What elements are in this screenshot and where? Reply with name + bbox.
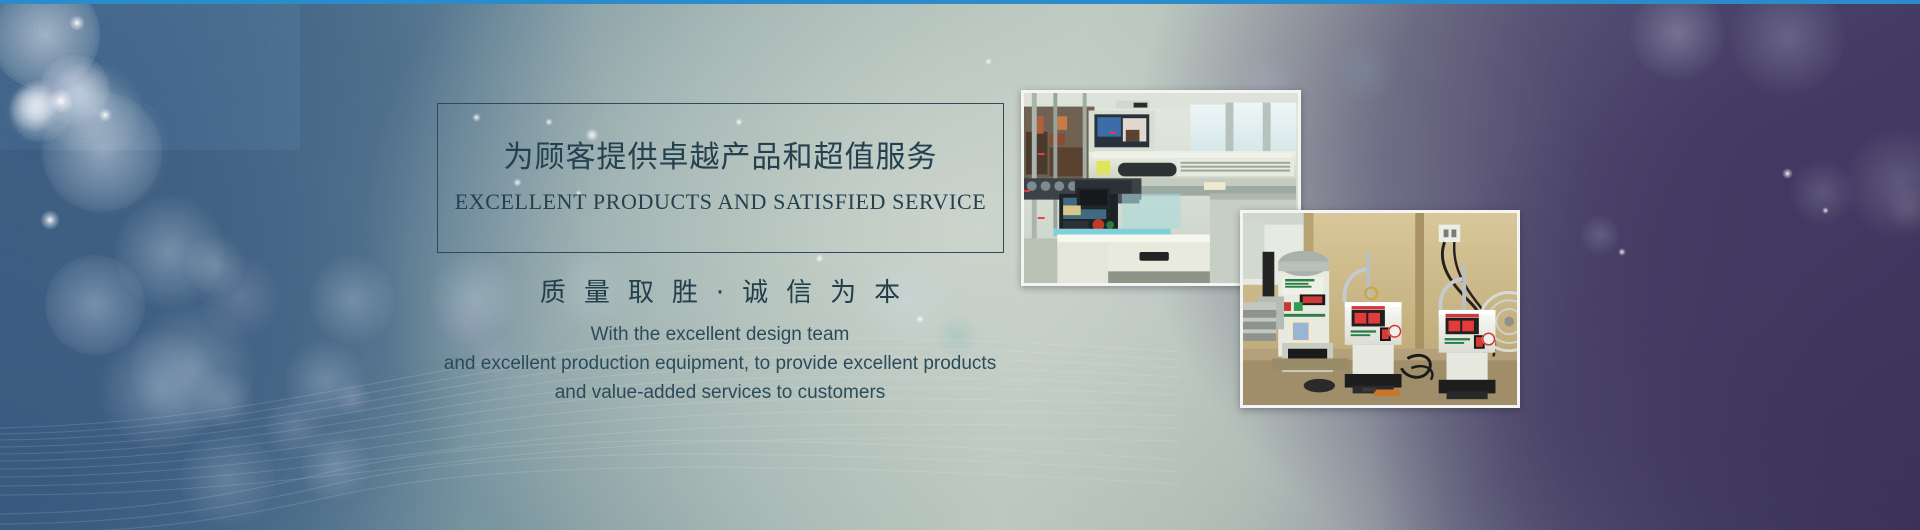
headline-english: EXCELLENT PRODUCTS AND SATISFIED SERVICE <box>437 189 1004 215</box>
description-paragraph: With the excellent design team and excel… <box>330 320 1110 407</box>
headline-chinese: 为顾客提供卓越产品和超值服务 <box>437 132 1004 176</box>
top-accent-bar <box>0 0 1920 4</box>
photo-press-machines <box>1240 210 1520 408</box>
promo-banner: 为顾客提供卓越产品和超值服务 EXCELLENT PRODUCTS AND SA… <box>0 0 1920 530</box>
photo-press-machines-image <box>1243 213 1517 405</box>
bokeh-decoration <box>0 0 1920 530</box>
headline-frame <box>437 103 1004 253</box>
description-line-1: With the excellent design team <box>330 320 1110 349</box>
grain-texture <box>0 0 300 150</box>
slogan-chinese: 质量取胜·诚信为本 <box>420 272 1020 309</box>
description-line-2: and excellent production equipment, to p… <box>330 349 1110 378</box>
description-line-3: and value-added services to customers <box>330 378 1110 407</box>
